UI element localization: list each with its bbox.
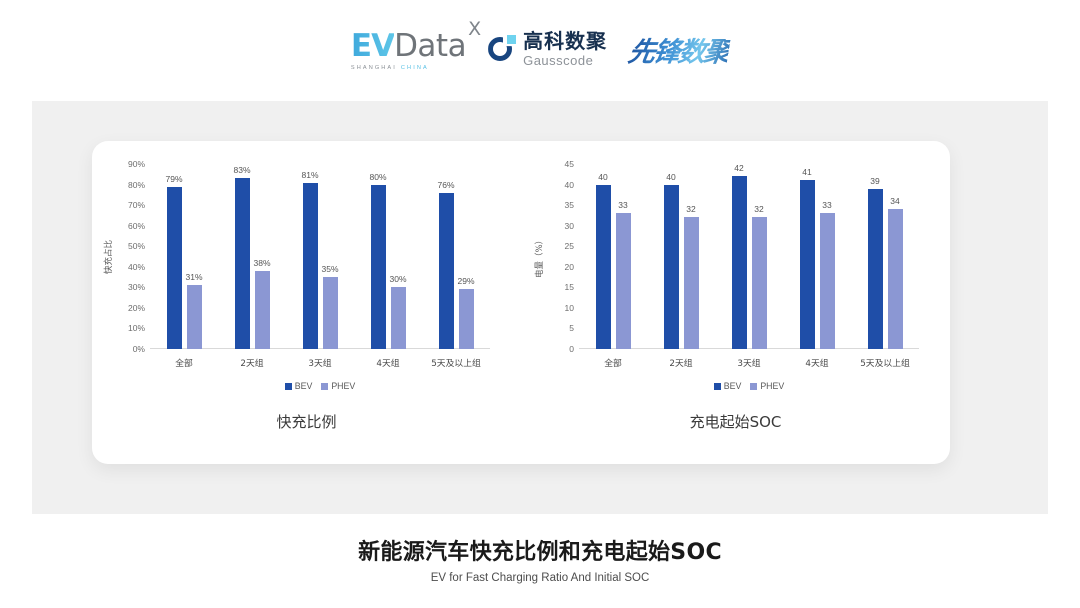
y-axis-tick-label: 50% (128, 241, 145, 251)
evdata-logo: EV Data X SHANGHAI CHINA (351, 28, 466, 71)
legend-item-bev[interactable]: BEV (285, 381, 313, 391)
y-axis-title: 电量（%） (533, 235, 545, 277)
bar-value-label: 35% (321, 264, 338, 274)
x-axis-tick-label: 4天组 (376, 356, 399, 369)
bar-groups: 4033全部40322天组42323天组41334天组39345天及以上组 (579, 164, 919, 349)
chart-2: 454035302520151050电量（%）4033全部40322天组4232… (521, 141, 950, 464)
bar-phev[interactable]: 33 (616, 213, 631, 349)
bar-bev[interactable]: 83% (235, 178, 250, 349)
bar-group: 83%38%2天组 (218, 164, 286, 349)
chart-legend: BEVPHEV (579, 381, 919, 391)
legend-swatch-icon (714, 383, 721, 390)
x-axis-tick-label: 3天组 (308, 356, 331, 369)
evdata-ev-text: EV (351, 28, 394, 64)
y-axis-tick-label: 80% (128, 180, 145, 190)
y-axis-tick-label: 10 (565, 303, 574, 313)
y-axis-tick-label: 25 (565, 241, 574, 251)
bar-phev[interactable]: 34 (888, 209, 903, 349)
y-axis-tick-label: 70% (128, 200, 145, 210)
bar-value-label: 30% (389, 274, 406, 284)
legend-swatch-icon (750, 383, 757, 390)
bar-value-label: 80% (369, 172, 386, 182)
bar-bev[interactable]: 41 (800, 180, 815, 349)
bar-bev[interactable]: 79% (167, 187, 182, 349)
bar-value-label: 32 (686, 204, 695, 214)
xianfeng-logo: 先锋数聚 (626, 30, 732, 69)
y-axis-tick-label: 30 (565, 221, 574, 231)
bar-group: 39345天及以上组 (851, 164, 919, 349)
bar-group: 81%35%3天组 (286, 164, 354, 349)
legend-label: BEV (724, 381, 742, 391)
chart-title-1: 快充比例 (92, 411, 521, 432)
bar-value-label: 83% (233, 165, 250, 175)
bar-group: 79%31%全部 (150, 164, 218, 349)
charts-container: 90%80%70%60%50%40%30%20%10%0%快充占比79%31%全… (92, 141, 950, 464)
chart-legend: BEVPHEV (150, 381, 490, 391)
y-axis-tick-label: 20% (128, 303, 145, 313)
gausscode-en-text: Gausscode (523, 54, 607, 67)
legend-item-phev[interactable]: PHEV (750, 381, 784, 391)
bar-phev[interactable]: 30% (391, 287, 406, 349)
bar-bev[interactable]: 76% (439, 193, 454, 349)
legend-swatch-icon (321, 383, 328, 390)
bar-phev[interactable]: 31% (187, 285, 202, 349)
legend-item-phev[interactable]: PHEV (321, 381, 355, 391)
evdata-data-text: Data (394, 28, 466, 64)
bar-bev[interactable]: 42 (732, 176, 747, 349)
chart-1: 90%80%70%60%50%40%30%20%10%0%快充占比79%31%全… (92, 141, 521, 464)
y-axis-tick-label: 5 (569, 323, 574, 333)
x-axis-tick-label: 5天及以上组 (860, 356, 910, 369)
bar-value-label: 33 (618, 200, 627, 210)
x-axis-tick-label: 全部 (604, 356, 622, 369)
y-axis-tick-label: 0 (569, 344, 574, 354)
y-axis-tick-label: 45 (565, 159, 574, 169)
y-axis-tick-label: 40% (128, 262, 145, 272)
bar-group: 80%30%4天组 (354, 164, 422, 349)
bar-value-label: 41 (802, 167, 811, 177)
bar-value-label: 38% (253, 258, 270, 268)
legend-swatch-icon (285, 383, 292, 390)
bar-phev[interactable]: 33 (820, 213, 835, 349)
x-axis-tick-label: 2天组 (240, 356, 263, 369)
page-title: 新能源汽车快充比例和充电起始SOC (0, 534, 1080, 566)
evdata-wordmark: EV Data X (351, 28, 466, 64)
x-axis-tick-label: 4天组 (805, 356, 828, 369)
plot-area-2: 454035302520151050电量（%）4033全部40322天组4232… (579, 164, 919, 349)
bar-value-label: 33 (822, 200, 831, 210)
logo-bar: EV Data X SHANGHAI CHINA 高科数聚 Gausscode … (0, 18, 1080, 80)
gausscode-c-mark-icon (488, 35, 516, 63)
bar-group: 42323天组 (715, 164, 783, 349)
legend-item-bev[interactable]: BEV (714, 381, 742, 391)
evdata-tagline-country: CHINA (401, 65, 429, 71)
bar-value-label: 81% (301, 170, 318, 180)
y-axis-tick-label: 0% (133, 344, 145, 354)
bar-phev[interactable]: 32 (752, 217, 767, 349)
bar-phev[interactable]: 38% (255, 271, 270, 349)
bar-value-label: 32 (754, 204, 763, 214)
gausscode-cn-text: 高科数聚 (523, 32, 607, 52)
evdata-x-superscript-icon: X (468, 18, 481, 40)
gausscode-logo: 高科数聚 Gausscode (488, 32, 607, 67)
evdata-tagline: SHANGHAI CHINA (351, 65, 429, 71)
bar-value-label: 31% (185, 272, 202, 282)
bar-value-label: 40 (666, 172, 675, 182)
legend-label: PHEV (760, 381, 784, 391)
bar-group: 41334天组 (783, 164, 851, 349)
bar-bev[interactable]: 40 (664, 185, 679, 349)
caption-block: 新能源汽车快充比例和充电起始SOC EV for Fast Charging R… (0, 534, 1080, 584)
chart-title-2: 充电起始SOC (521, 411, 950, 432)
bar-group: 4033全部 (579, 164, 647, 349)
bar-value-label: 76% (437, 180, 454, 190)
legend-label: BEV (295, 381, 313, 391)
y-axis-tick-label: 35 (565, 200, 574, 210)
bar-value-label: 42 (734, 163, 743, 173)
y-axis-tick-label: 40 (565, 180, 574, 190)
bar-bev[interactable]: 81% (303, 183, 318, 350)
bar-phev[interactable]: 35% (323, 277, 338, 349)
bar-value-label: 39 (870, 176, 879, 186)
gausscode-wordmark: 高科数聚 Gausscode (523, 32, 607, 67)
bar-value-label: 40 (598, 172, 607, 182)
y-axis-tick-label: 90% (128, 159, 145, 169)
bar-groups: 79%31%全部83%38%2天组81%35%3天组80%30%4天组76%29… (150, 164, 490, 349)
bar-phev[interactable]: 29% (459, 289, 474, 349)
x-axis-tick-label: 5天及以上组 (431, 356, 481, 369)
y-axis-tick-label: 10% (128, 323, 145, 333)
bar-value-label: 29% (457, 276, 474, 286)
y-axis-tick-label: 60% (128, 221, 145, 231)
bar-phev[interactable]: 32 (684, 217, 699, 349)
bar-group: 76%29%5天及以上组 (422, 164, 490, 349)
y-axis-title: 快充占比 (102, 239, 114, 273)
bar-bev[interactable]: 40 (596, 185, 611, 349)
plot-area-1: 90%80%70%60%50%40%30%20%10%0%快充占比79%31%全… (150, 164, 490, 349)
charts-card: 90%80%70%60%50%40%30%20%10%0%快充占比79%31%全… (92, 141, 950, 464)
x-axis-tick-label: 2天组 (669, 356, 692, 369)
evdata-tagline-city: SHANGHAI (351, 65, 397, 71)
bar-group: 40322天组 (647, 164, 715, 349)
y-axis-tick-label: 20 (565, 262, 574, 272)
page-subtitle: EV for Fast Charging Ratio And Initial S… (0, 572, 1080, 584)
x-axis-tick-label: 3天组 (737, 356, 760, 369)
gausscode-square-shape (507, 35, 516, 44)
bar-bev[interactable]: 80% (371, 185, 386, 349)
x-axis-tick-label: 全部 (175, 356, 193, 369)
bar-value-label: 79% (165, 174, 182, 184)
bar-bev[interactable]: 39 (868, 189, 883, 349)
y-axis-tick-label: 15 (565, 282, 574, 292)
slide-page: EV Data X SHANGHAI CHINA 高科数聚 Gausscode … (0, 0, 1080, 608)
y-axis-tick-label: 30% (128, 282, 145, 292)
legend-label: PHEV (331, 381, 355, 391)
bar-value-label: 34 (890, 196, 899, 206)
